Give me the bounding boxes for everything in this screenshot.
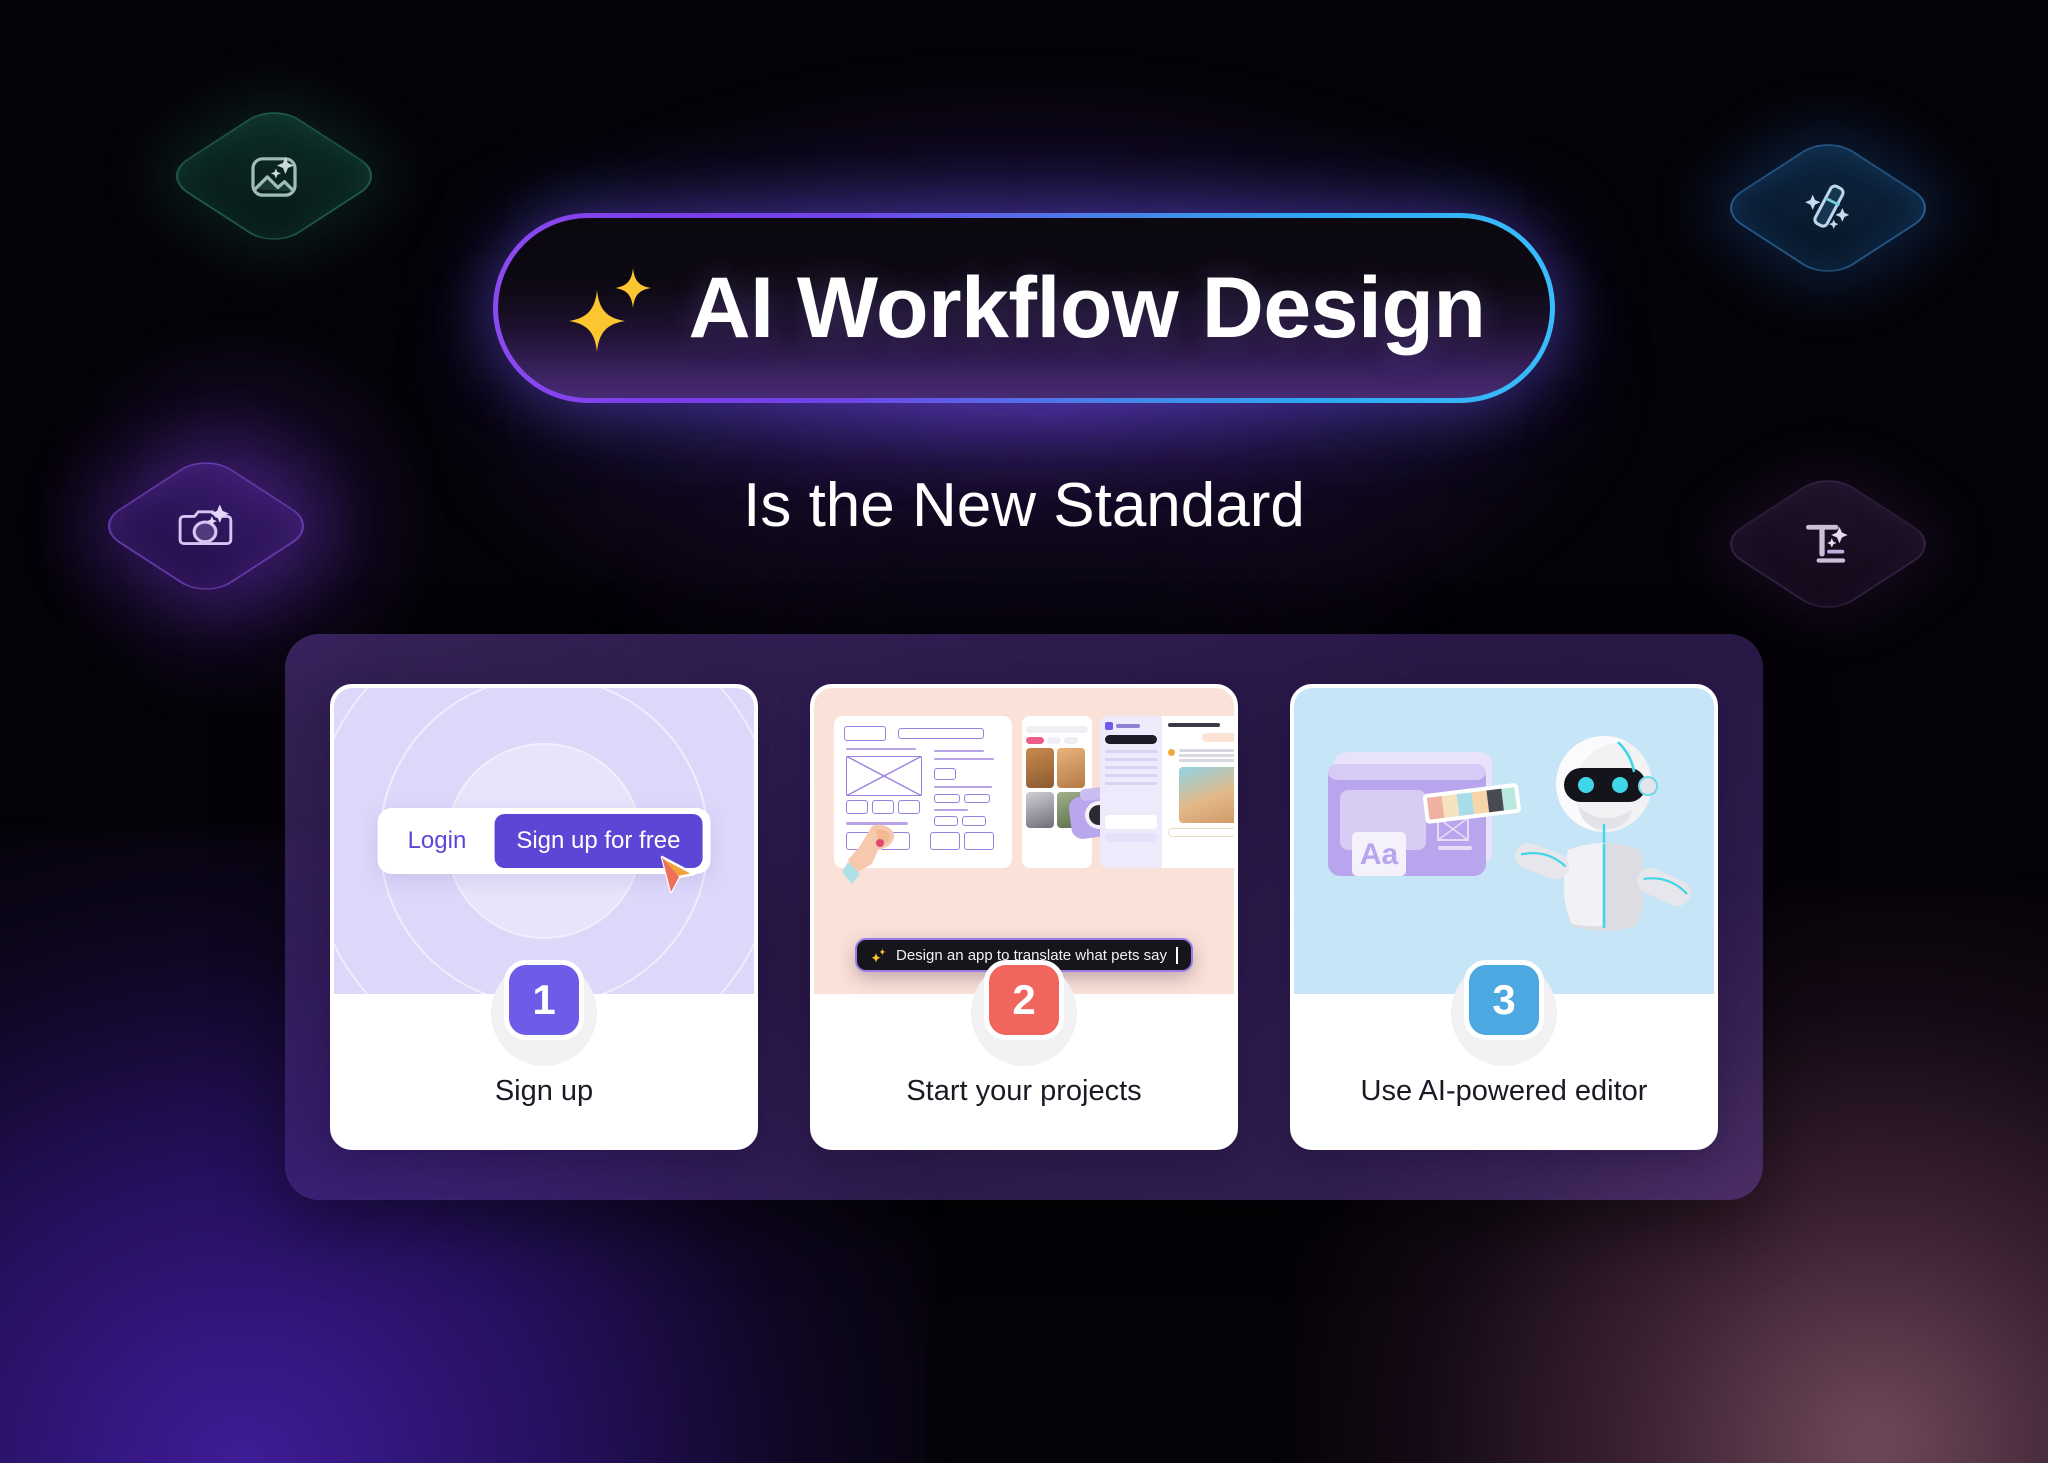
page-title: AI Workflow Design	[689, 259, 1486, 358]
step-badge-2: 2	[984, 960, 1064, 1040]
title-pill-inner: AI Workflow Design	[498, 218, 1550, 398]
text-sparkle-icon	[1797, 513, 1858, 574]
sketch-cross	[846, 756, 922, 796]
title-pill-border: AI Workflow Design	[493, 213, 1555, 403]
page-subtitle: Is the New Standard	[743, 470, 1305, 541]
step-2-footer: 2 Start your projects	[814, 994, 1234, 1146]
step-1-caption: Sign up	[495, 1075, 593, 1108]
typography-label: Aa	[1360, 838, 1399, 871]
step-card-editor[interactable]: Aa	[1290, 684, 1718, 1150]
step-2-illustration: Design an app to translate what pets say	[814, 688, 1234, 994]
sparkle-icon	[870, 947, 887, 964]
text-caret	[1176, 947, 1178, 964]
cursor-pointer-icon	[656, 853, 700, 897]
step-3-illustration: Aa	[1294, 688, 1714, 994]
step-1-illustration: Login Sign up for free	[334, 688, 754, 994]
camera-sparkle-icon	[174, 494, 237, 557]
step-badge-1: 1	[504, 960, 584, 1040]
step-badge-3: 3	[1464, 960, 1544, 1040]
chat-mockup	[1100, 716, 1234, 868]
login-link[interactable]: Login	[398, 827, 477, 855]
step-card-signup[interactable]: Login Sign up for free 1 Sign up	[330, 684, 758, 1150]
hand-drawing-icon	[842, 812, 918, 888]
title-banner: AI Workflow Design	[493, 213, 1555, 403]
image-sparkle-icon	[243, 145, 304, 206]
chat-panel	[1162, 716, 1234, 868]
step-3-caption: Use AI-powered editor	[1361, 1075, 1648, 1108]
step-card-projects[interactable]: Design an app to translate what pets say…	[810, 684, 1238, 1150]
magic-wand-icon	[1797, 177, 1858, 238]
sparkle-icon	[563, 260, 659, 356]
step-1-footer: 1 Sign up	[334, 994, 754, 1146]
steps-panel: Login Sign up for free 1 Sign up	[285, 634, 1763, 1200]
design-editor-icon: Aa	[1320, 746, 1528, 896]
chat-sidebar	[1100, 716, 1162, 868]
step-2-caption: Start your projects	[906, 1075, 1141, 1108]
step-3-footer: 3 Use AI-powered editor	[1294, 994, 1714, 1146]
robot-icon	[1512, 728, 1692, 938]
